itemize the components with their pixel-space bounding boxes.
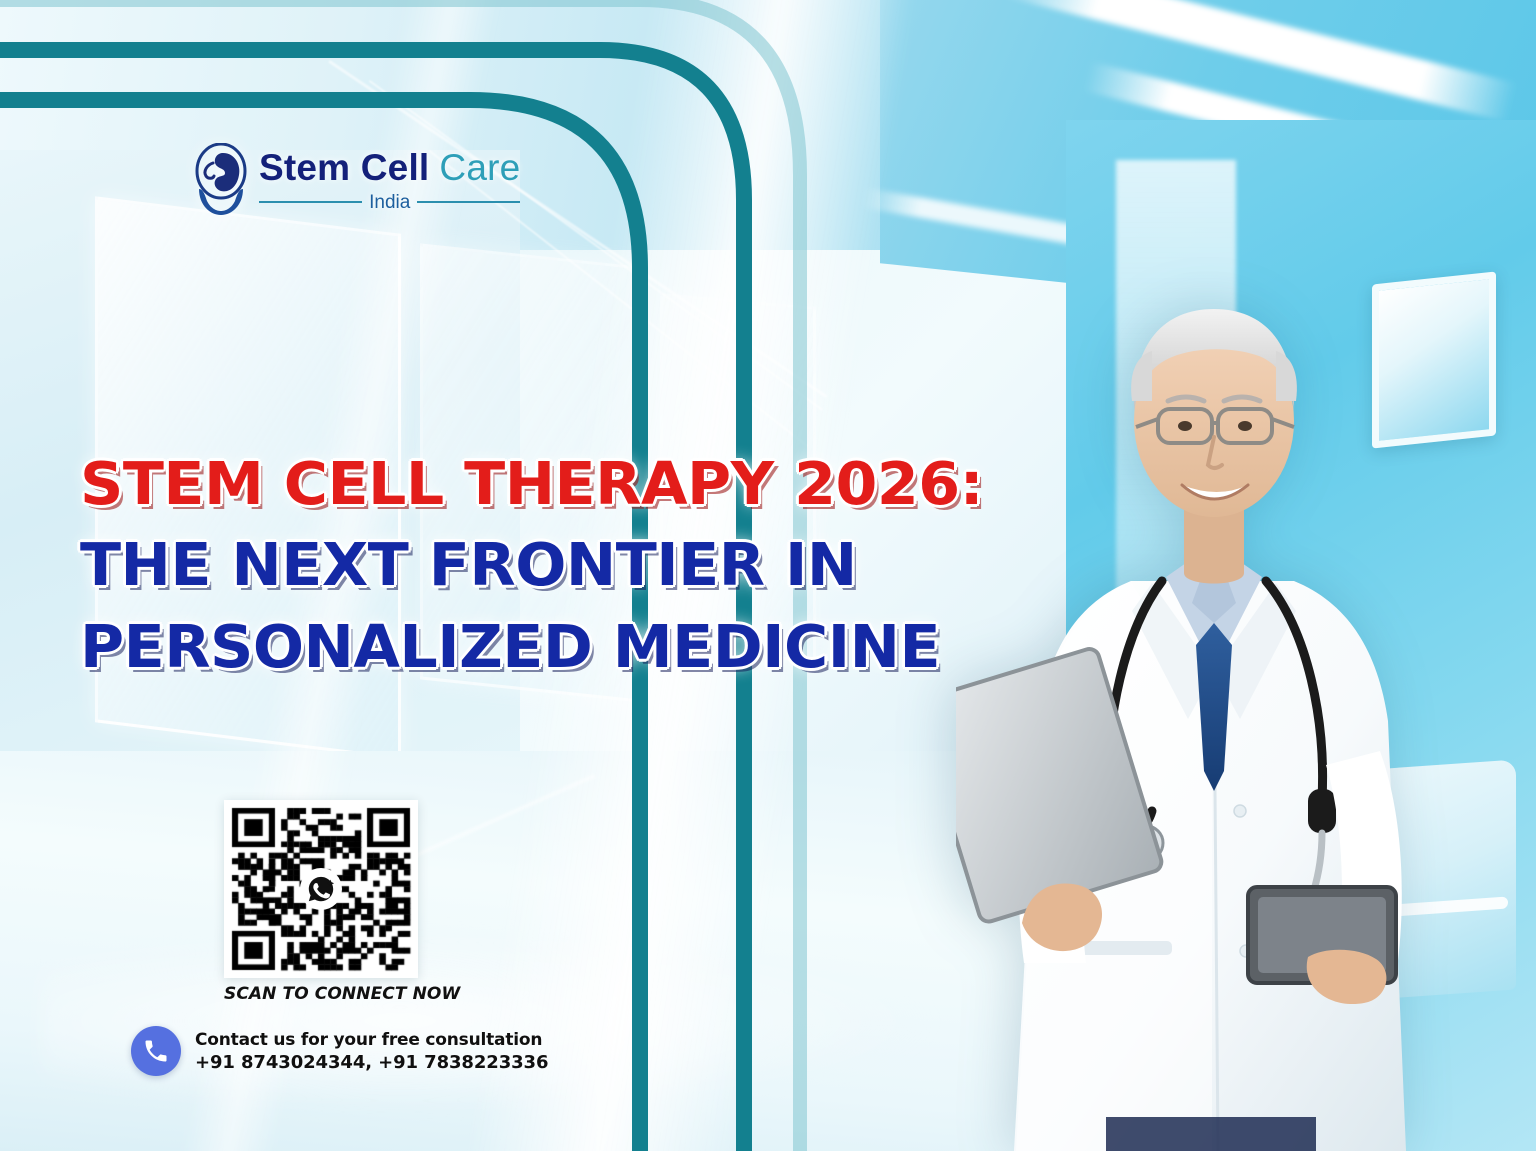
brand-country: India [369,193,410,212]
headline-line-2: THE NEXT FRONTIER IN [80,524,1018,605]
brand-name-secondary: Care [439,147,520,188]
qr-code[interactable] [224,800,418,978]
doctor-head [1131,309,1297,584]
brand-name-row: Stem CellCare [259,149,520,186]
promotional-banner: Stem CellCare India STEM CELL THERAPY 20… [0,0,1536,1151]
contact-headline: Contact us for your free consultation [195,1030,548,1050]
headline-line-3: PERSONALIZED MEDICINE [80,606,1018,687]
contact-block[interactable]: Contact us for your free consultation +9… [131,1026,548,1076]
brand-country-row: India [259,193,520,212]
qr-caption: SCAN TO CONNECT NOW [224,984,426,1004]
contact-text: Contact us for your free consultation +9… [195,1030,548,1073]
logo-rule-left [259,201,362,203]
logo-rule-right [417,201,520,203]
brand-name-primary: Stem Cell [259,147,429,188]
doctor-trousers [1106,1117,1316,1151]
phone-icon[interactable] [131,1026,181,1076]
doctor-photo [956,251,1476,1151]
qr-block[interactable]: SCAN TO CONNECT NOW [224,800,426,1004]
whatsapp-icon [300,868,342,910]
headline: STEM CELL THERAPY 2026: THE NEXT FRONTIE… [80,443,1000,687]
brand-logo-text: Stem CellCare India [259,149,520,212]
headline-line-1: STEM CELL THERAPY 2026: [80,443,1018,524]
contact-phone-numbers: +91 8743024344, +91 7838223336 [195,1052,548,1073]
embryo-in-hands-icon [193,143,249,217]
brand-logo[interactable]: Stem CellCare India [193,143,520,217]
